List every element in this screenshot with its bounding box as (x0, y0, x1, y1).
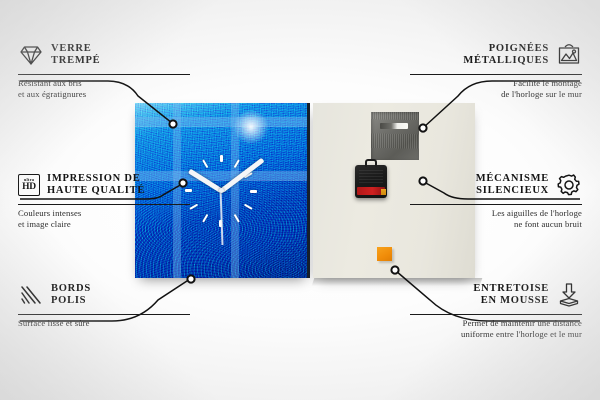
callout-rule (410, 74, 582, 75)
gear-icon (556, 172, 582, 198)
callout-entretoise-en-mousse[interactable]: ENTRETOISE EN MOUSSE Permet de maintenir… (410, 278, 582, 339)
callout-title: BORDS POLIS (51, 283, 91, 308)
callout-rule (410, 204, 582, 205)
callout-verre-trempe[interactable]: VERRE TREMPÉ Résistant aux bris et aux é… (18, 38, 190, 99)
mechanism-detail (359, 170, 383, 184)
mechanism-hook (365, 159, 377, 167)
callout-description: Facilite le montage de l'horloge sur le … (410, 78, 582, 99)
diamond-icon (18, 42, 44, 68)
callout-header: ENTRETOISE EN MOUSSE (410, 278, 582, 312)
callout-title: POIGNÉES MÉTALLIQUES (463, 43, 549, 68)
ultra-hd-icon-bottom: HD (22, 183, 36, 193)
callout-title: MÉCANISME SILENCIEUX (476, 173, 549, 198)
callout-header: VERRE TREMPÉ (18, 38, 190, 72)
callout-rule (18, 204, 190, 205)
hanger-slot (380, 123, 408, 129)
callout-header: POIGNÉES MÉTALLIQUES (410, 38, 582, 72)
foam-spacer-arrow-icon (556, 282, 582, 308)
picture-frame-hanger-icon (556, 42, 582, 68)
callout-mecanisme-silencieux[interactable]: MÉCANISME SILENCIEUX Les aiguilles de l'… (410, 168, 582, 229)
metal-hanger-plate (371, 112, 419, 160)
infographic-canvas: VERRE TREMPÉ Résistant aux bris et aux é… (0, 0, 600, 400)
callout-header: MÉCANISME SILENCIEUX (410, 168, 582, 202)
ultra-hd-icon: ultra HD (18, 174, 40, 196)
polished-edges-icon (18, 282, 44, 308)
callout-impression-haute-qualite[interactable]: ultra HD IMPRESSION DE HAUTE QUALITÉ Cou… (18, 168, 190, 229)
callout-description: Surface lisse et sûre (18, 318, 190, 329)
clock-mechanism-box (355, 165, 387, 198)
callout-rule (18, 314, 190, 315)
callout-header: ultra HD IMPRESSION DE HAUTE QUALITÉ (18, 168, 190, 202)
foam-spacer (377, 247, 392, 261)
callout-rule (18, 74, 190, 75)
callout-header: BORDS POLIS (18, 278, 190, 312)
callout-description: Résistant aux bris et aux égratignures (18, 78, 190, 99)
light-flare (231, 107, 271, 147)
callout-bords-polis[interactable]: BORDS POLIS Surface lisse et sûre (18, 278, 190, 329)
clock-center-pivot (219, 188, 224, 193)
callout-description: Permet de maintenir une distance uniform… (410, 318, 582, 339)
callout-description: Couleurs intenses et image claire (18, 208, 190, 229)
battery-terminal (381, 189, 386, 195)
callout-title: VERRE TREMPÉ (51, 43, 100, 68)
glass-band (135, 117, 307, 126)
callout-poignees-metalliques[interactable]: POIGNÉES MÉTALLIQUES Facilite le montage… (410, 38, 582, 99)
callout-title: ENTRETOISE EN MOUSSE (473, 283, 549, 308)
callout-rule (410, 314, 582, 315)
callout-title: IMPRESSION DE HAUTE QUALITÉ (47, 173, 145, 198)
callout-description: Les aiguilles de l'horloge ne font aucun… (410, 208, 582, 229)
